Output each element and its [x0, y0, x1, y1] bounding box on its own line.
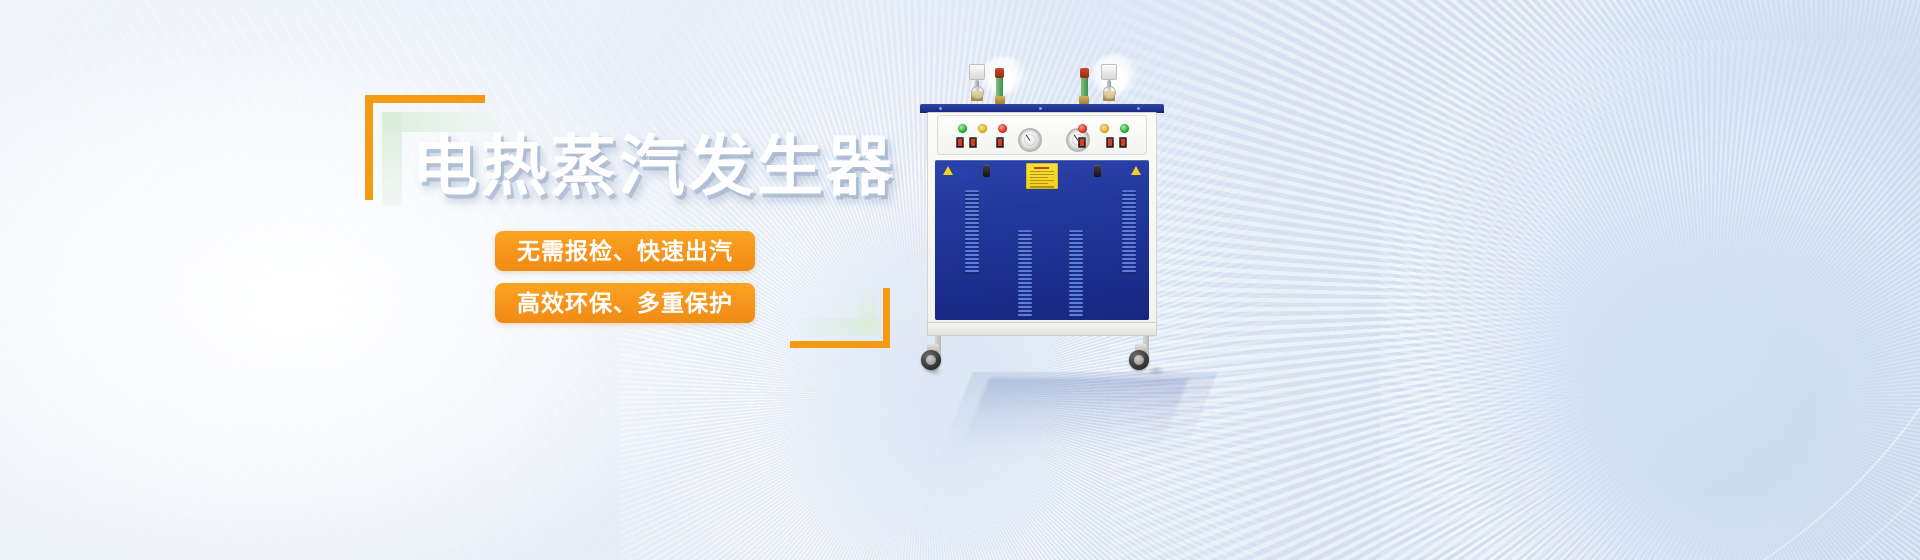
rocker-switch-3 — [996, 137, 1004, 148]
warning-triangle-left — [943, 166, 953, 175]
bracket-orange-bar-right — [883, 288, 890, 348]
feature-badge-2: 高效环保、多重保护 — [495, 283, 755, 323]
gauge-ring-left — [971, 86, 984, 99]
feature-badge-list: 无需报检、快速出汽 高效环保、多重保护 — [495, 231, 755, 323]
indicator-lamp-red-left — [998, 124, 1007, 133]
hose-clamp-right — [1080, 68, 1089, 78]
warning-triangle-right — [1131, 166, 1141, 175]
ventilation-slots-2 — [1018, 230, 1032, 318]
door-handle-left — [983, 165, 990, 177]
machine-reflection-body — [961, 378, 1189, 448]
brass-fitting-right — [1079, 96, 1089, 104]
safety-valve-right — [1101, 64, 1117, 80]
bracket-orange-bar-left — [365, 95, 373, 200]
control-panel — [937, 115, 1147, 155]
spec-plate-line — [1030, 180, 1054, 181]
feature-badge-1: 无需报检、快速出汽 — [495, 231, 755, 271]
indicator-lamp-green-left — [958, 124, 967, 133]
spec-plate-line — [1030, 177, 1048, 178]
bracket-orange-bar-bottom — [790, 341, 890, 348]
rocker-switch-1 — [956, 137, 964, 148]
rocker-switch-2 — [969, 137, 977, 148]
sweep-arc-5 — [642, 0, 1920, 560]
ventilation-slots-3 — [1069, 230, 1083, 318]
corner-bracket-bottom-right — [790, 288, 890, 348]
spec-plate-line — [1030, 183, 1048, 184]
brass-fitting-left — [995, 96, 1005, 104]
rocker-switch-5 — [1106, 137, 1114, 148]
page-title: 电热蒸汽发生器 — [412, 133, 895, 199]
hose-clamp-left — [995, 68, 1004, 78]
machine-front-door — [935, 160, 1149, 320]
lid-screw-center — [1039, 107, 1042, 110]
indicator-lamp-yellow-right — [1100, 124, 1109, 133]
door-handle-right — [1094, 165, 1101, 177]
product-hero-banner: 电热蒸汽发生器 无需报检、快速出汽 高效环保、多重保护 — [0, 0, 1920, 560]
bracket-orange-bar-top — [365, 95, 485, 103]
ventilation-slots-1 — [965, 190, 979, 274]
fan-line-pattern-far-right — [1380, 40, 1920, 560]
spec-plate-line — [1030, 171, 1054, 172]
bracket-green-accent-right — [859, 288, 876, 335]
ventilation-slots-4 — [1122, 190, 1136, 274]
spec-plate-title-line — [1034, 167, 1049, 169]
spec-plate-line — [1030, 186, 1054, 187]
indicator-lamp-yellow-left — [978, 124, 987, 133]
indicator-lamp-red-right — [1078, 124, 1087, 133]
caster-wheel-right — [1129, 350, 1149, 370]
indicator-lamp-green-right — [1120, 124, 1129, 133]
lid-screw-left — [939, 107, 942, 110]
steam-plume-left-2 — [989, 68, 1019, 94]
pressure-gauge-left — [1018, 128, 1042, 152]
rocker-switch-6 — [1119, 137, 1127, 148]
machine-base-plate — [927, 322, 1157, 336]
spec-plate-line — [1030, 174, 1054, 175]
rocker-switch-4 — [1078, 137, 1086, 148]
caster-wheel-left — [921, 350, 941, 370]
fan-line-pattern-right — [1110, 0, 1920, 560]
yellow-spec-plate — [1026, 163, 1058, 189]
gauge-ring-right — [1103, 86, 1116, 99]
bracket-green-accent-left — [382, 112, 402, 206]
lid-screw-right — [1137, 107, 1140, 110]
safety-valve-left — [969, 64, 985, 80]
electric-steam-generator — [915, 60, 1175, 380]
